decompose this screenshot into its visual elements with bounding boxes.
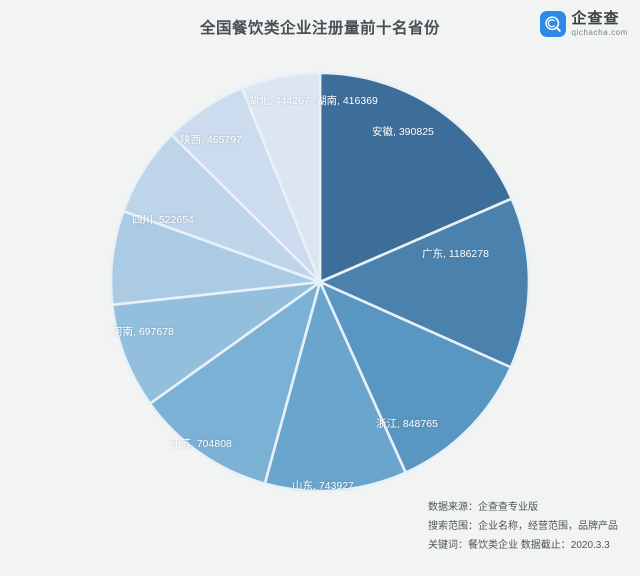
brand-logo: 企查查 qichacha.com	[540, 11, 628, 37]
brand-url: qichacha.com	[571, 29, 628, 37]
brand-name: 企查查	[571, 11, 628, 26]
brand-text: 企查查 qichacha.com	[571, 11, 628, 37]
footer-notes: 数据来源：企查查专业版 搜索范围：企业名称，经营范围，品牌产品 关键词：餐饮类企…	[428, 498, 618, 555]
pie-svg	[104, 66, 536, 498]
pie-chart: 广东, 1186278浙江, 848765山东, 743927江苏, 70480…	[104, 66, 536, 498]
qichacha-logo-icon	[540, 11, 566, 37]
chart-canvas: 全国餐饮类企业注册量前十名省份 企查查 qichacha.com 广东, 118…	[0, 0, 640, 576]
footer-keyword: 关键词：餐饮类企业 数据截止：2020.3.3	[428, 536, 618, 555]
footer-source: 数据来源：企查查专业版	[428, 498, 618, 517]
footer-scope: 搜索范围：企业名称，经营范围，品牌产品	[428, 517, 618, 536]
